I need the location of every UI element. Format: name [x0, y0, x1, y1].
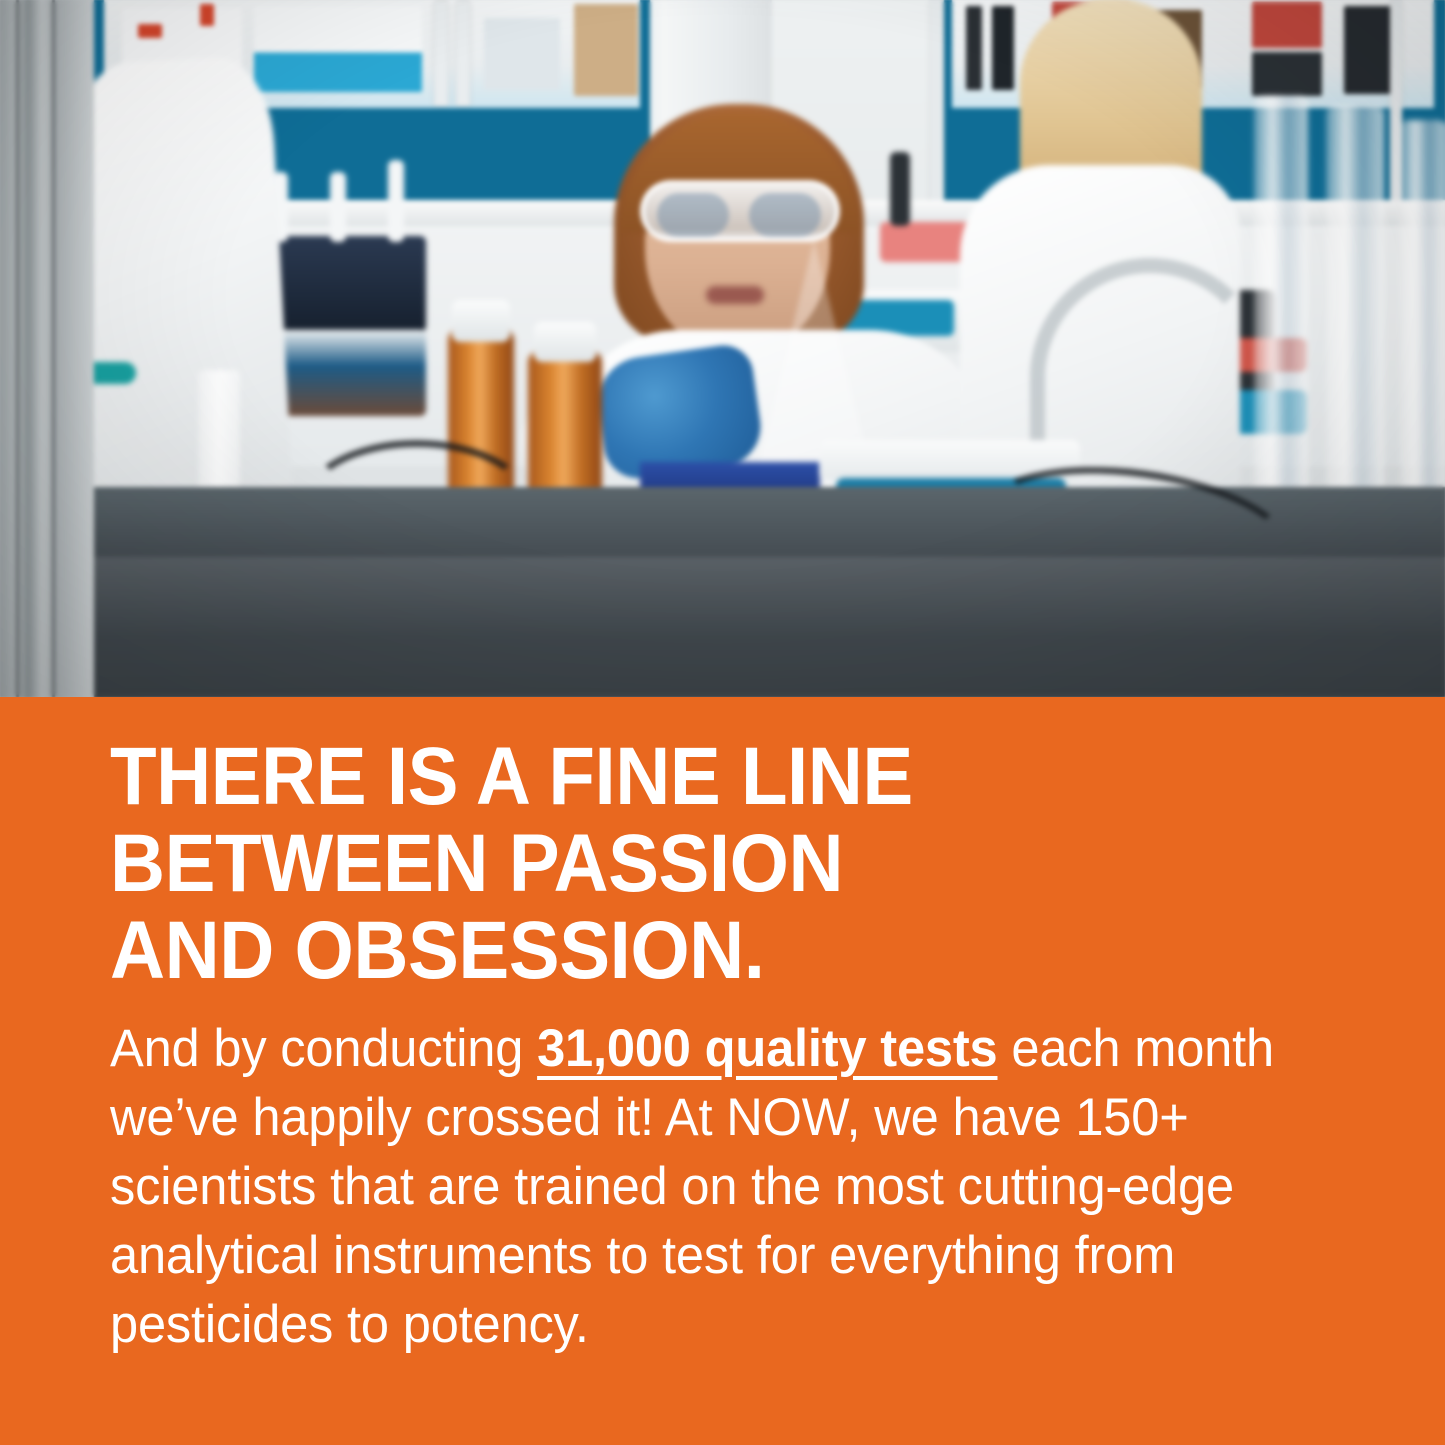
- lab-photo: 500: [0, 0, 1445, 697]
- lab-photo-scene: 500: [0, 0, 1445, 697]
- wall-column-left: [0, 0, 94, 697]
- social-graphic-canvas: 500 THERE IS A FINE LINE BETWEEN PASSION…: [0, 0, 1445, 1445]
- cabinet-mullion-right: [930, 0, 944, 206]
- power-cable-left: [300, 440, 534, 574]
- amber-bottle-2-cap: [534, 322, 596, 362]
- safety-goggles: [640, 180, 840, 242]
- scientist-left-labcoat: [60, 55, 294, 535]
- body-lead: And by conducting: [110, 1019, 537, 1078]
- test-tube-3: [330, 172, 346, 242]
- orange-message-panel: THERE IS A FINE LINE BETWEEN PASSION AND…: [0, 697, 1445, 1445]
- body-copy: And by conducting 31,000 quality tests e…: [110, 1014, 1304, 1359]
- amber-bottle-1-cap: [452, 300, 510, 342]
- body-emphasis-stat: 31,000 quality tests: [537, 1019, 997, 1078]
- analyzer-post: [890, 152, 910, 226]
- headline: THERE IS A FINE LINE BETWEEN PASSION AND…: [110, 733, 1263, 994]
- test-tube-4: [388, 160, 404, 242]
